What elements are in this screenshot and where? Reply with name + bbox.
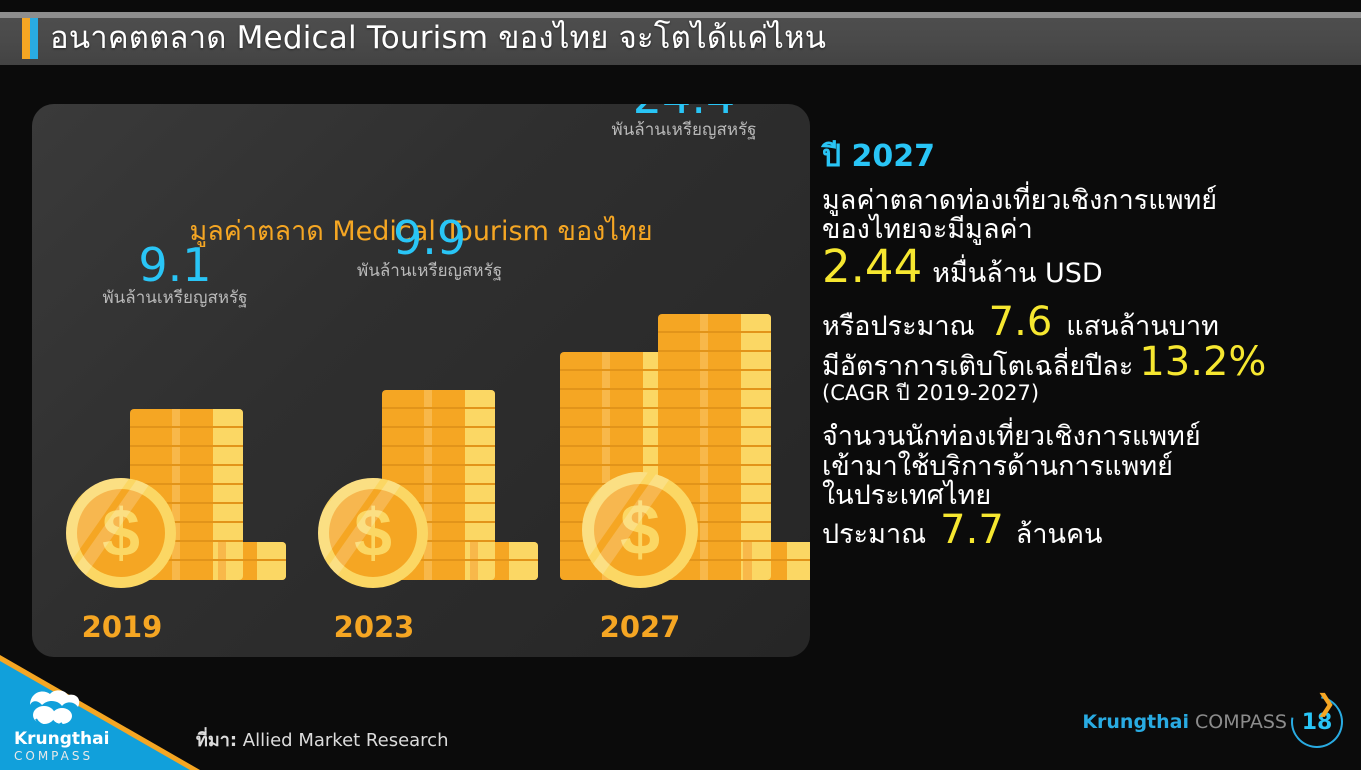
page-number-badge: ❯ 18 bbox=[1291, 696, 1343, 748]
info-line-3: จำนวนนักท่องเที่ยวเชิงการแพทย์ bbox=[822, 422, 1347, 451]
brand-krungthai-label: Krungthai bbox=[1082, 711, 1189, 733]
info-usd-row: 2.44 หมื่นล้าน USD bbox=[822, 244, 1347, 289]
info-people-row: ประมาณ 7.7 ล้านคน bbox=[822, 510, 1347, 550]
bar-value-2019: 9.1 พันล้านเหรียญสหรัฐ bbox=[102, 242, 247, 307]
info-value-people: 7.7 bbox=[940, 510, 1004, 550]
bar-group-2023: 9.9 พันล้านเหรียญสหรัฐ bbox=[310, 327, 540, 580]
bar-year-2019: 2019 bbox=[82, 610, 163, 644]
accent-bar-orange bbox=[22, 18, 30, 59]
info-unit-baht: แสนล้านบาท bbox=[1066, 312, 1219, 341]
header: อนาคตตลาด Medical Tourism ของไทย จะโตได้… bbox=[22, 12, 826, 65]
info-cagr-row: มีอัตราการเติบโตเฉลี่ยปีละ 13.2% bbox=[822, 342, 1347, 382]
info-value-baht: 7.6 bbox=[989, 302, 1053, 342]
footer-brand: Krungthai COMPASS ❯ 18 bbox=[1082, 696, 1343, 748]
chart-panel: มูลค่าตลาด Medical Tourism ของไทย 9.1 พั… bbox=[32, 104, 810, 657]
info-baht-block: หรือประมาณ 7.6 แสนล้านบาท มีอัตราการเติบ… bbox=[822, 302, 1347, 405]
bar-group-2019: 9.1 พันล้านเหรียญสหรัฐ bbox=[60, 350, 290, 580]
info-baht-row: หรือประมาณ 7.6 แสนล้านบาท bbox=[822, 302, 1347, 342]
krungthai-nok-vayupak-icon bbox=[22, 685, 84, 729]
bar-value-2023: 9.9 พันล้านเหรียญสหรัฐ bbox=[357, 215, 502, 280]
page-title: อนาคตตลาด Medical Tourism ของไทย จะโตได้… bbox=[50, 23, 826, 54]
info-line-4: เข้ามาใช้บริการด้านการแพทย์ bbox=[822, 452, 1347, 481]
dollar-coin-2019: $ bbox=[66, 478, 176, 588]
bar-year-2027: 2027 bbox=[600, 610, 681, 644]
info-cagr-note: (CAGR ปี 2019-2027) bbox=[822, 382, 1347, 405]
bar-group-2027: 24.4 พันล้านเหรียญสหรัฐ bbox=[530, 250, 810, 580]
info-approx-label-2: ประมาณ bbox=[822, 520, 926, 549]
krungthai-logo-name: Krungthai bbox=[14, 731, 134, 748]
krungthai-logo: Krungthai COMPASS bbox=[14, 685, 134, 762]
info-panel: ปี 2027 มูลค่าตลาดท่องเที่ยวเชิงการแพทย์… bbox=[822, 140, 1347, 640]
footer-corner-decoration: Krungthai COMPASS bbox=[0, 655, 200, 770]
accent-bar-blue bbox=[30, 18, 38, 59]
chart-area: 9.1 พันล้านเหรียญสหรัฐ bbox=[32, 104, 810, 657]
info-unit-usd: หมื่นล้าน USD bbox=[932, 259, 1103, 288]
info-value-usd: 2.44 bbox=[822, 244, 922, 289]
info-line-5: ในประเทศไทย bbox=[822, 481, 1347, 510]
info-year-heading: ปี 2027 bbox=[822, 140, 1347, 173]
source-note: ที่มา: Allied Market Research bbox=[196, 725, 448, 754]
brand-compass-label: COMPASS bbox=[1195, 711, 1287, 733]
krungthai-logo-sub: COMPASS bbox=[14, 750, 134, 762]
dollar-coin-2027: $ bbox=[582, 472, 698, 588]
bar-year-2023: 2023 bbox=[334, 610, 415, 644]
info-tourists-block: จำนวนนักท่องเที่ยวเชิงการแพทย์ เข้ามาใช้… bbox=[822, 422, 1347, 549]
info-cagr-value: 13.2% bbox=[1139, 342, 1266, 382]
source-value: Allied Market Research bbox=[243, 730, 449, 751]
info-cagr-label: มีอัตราการเติบโตเฉลี่ยปีละ bbox=[822, 352, 1133, 381]
info-approx-label: หรือประมาณ bbox=[822, 312, 975, 341]
source-prefix: ที่มา: bbox=[196, 730, 237, 751]
info-line-1: มูลค่าตลาดท่องเที่ยวเชิงการแพทย์ bbox=[822, 186, 1347, 215]
info-unit-people: ล้านคน bbox=[1016, 520, 1103, 549]
info-market-value-block: มูลค่าตลาดท่องเที่ยวเชิงการแพทย์ ของไทยจ… bbox=[822, 186, 1347, 289]
bar-value-2027: 24.4 พันล้านเหรียญสหรัฐ bbox=[611, 104, 756, 139]
chevron-right-icon: ❯ bbox=[1316, 691, 1336, 715]
dollar-coin-2023: $ bbox=[318, 478, 428, 588]
